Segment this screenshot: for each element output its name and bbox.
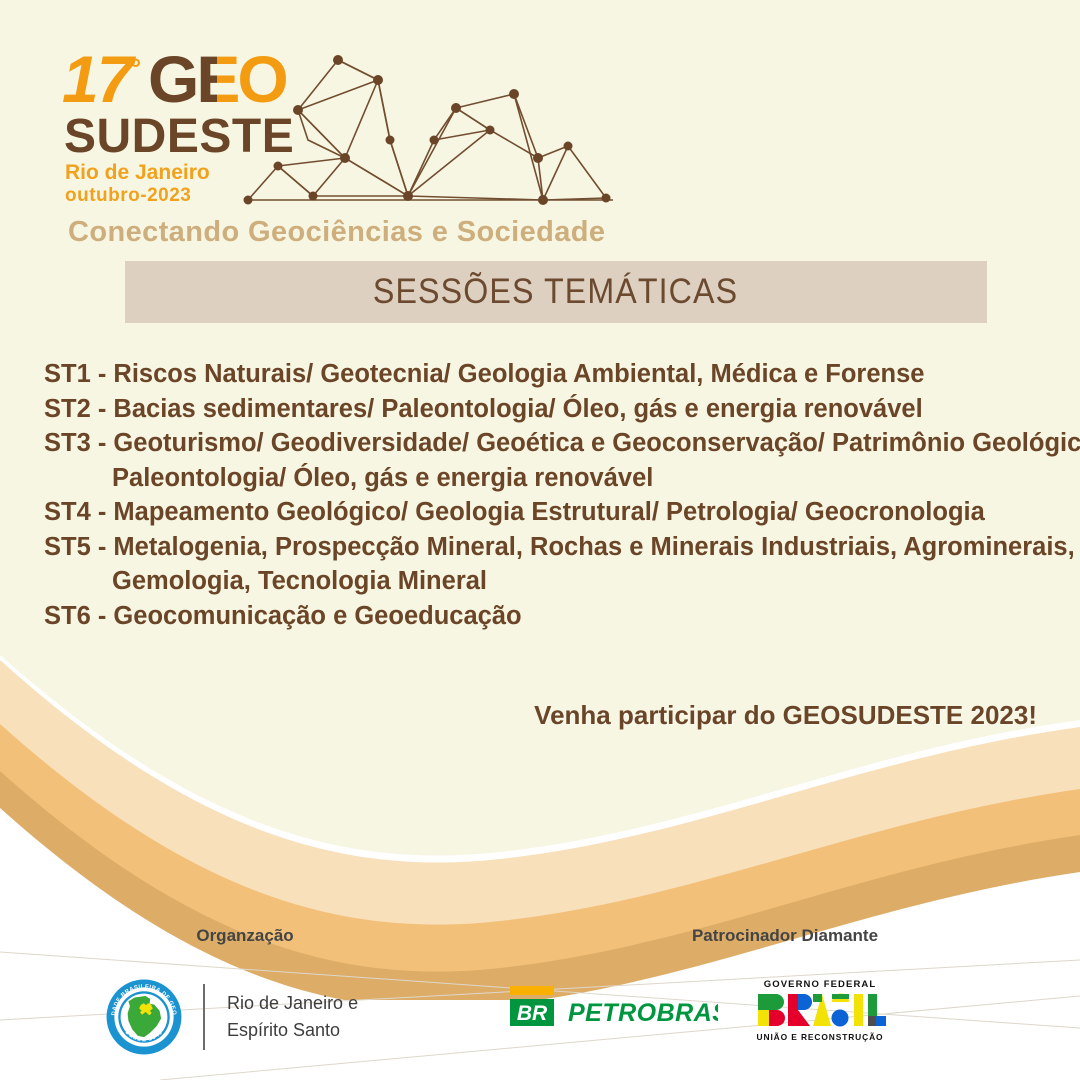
affiliate-line-2: Espírito Santo [227,1017,358,1044]
governo-federal-brasil-logo: GOVERNO FEDERAL [750,976,890,1046]
session-item-st6: ST6 - Geocomunicação e Geoeducação [44,599,1054,634]
svg-text:17: 17 [62,44,137,116]
organization-divider [203,984,205,1050]
footer-sponsor-column: Patrocinador Diamante BR PETROBRAS GOVER… [490,926,1080,946]
svg-text:Rio de Janeiro: Rio de Janeiro [65,161,210,184]
organization-affiliate-text: Rio de Janeiro e Espírito Santo [227,990,358,1044]
poster-canvas: 17 ° GEO SUDESTE Rio de Janeiro outubro-… [0,0,1080,1080]
sponsor-logo-row: BR PETROBRAS GOVERNO FEDERAL [508,976,890,1046]
sbg-sociedade-brasileira-de-geologia-seal: SOCIEDADE BRASILEIRA DE GEOLOGIA DESDE 1… [105,978,183,1056]
session-item-st2: ST2 - Bacias sedimentares/ Paleontologia… [44,392,1054,427]
geo-network-mountain-graphic [238,48,618,213]
session-item-st3-cont: Paleontologia/ Óleo, gás e energia renov… [44,461,1054,496]
petrobras-logo: BR PETROBRAS [508,983,718,1039]
organization-heading: Organzação [0,926,490,946]
organization-logo-row: SOCIEDADE BRASILEIRA DE GEOLOGIA DESDE 1… [105,978,358,1056]
session-item-st3: ST3 - Geoturismo/ Geodiversidade/ Geoéti… [44,426,1054,461]
section-banner-title: SESSÕES TEMÁTICAS [373,272,738,312]
svg-text:UNIÃO E RECONSTRUÇÃO: UNIÃO E RECONSTRUÇÃO [757,1032,884,1042]
affiliate-line-1: Rio de Janeiro e [227,990,358,1017]
sponsor-heading: Patrocinador Diamante [490,926,1080,946]
call-to-action-text: Venha participar do GEOSUDESTE 2023! [534,700,1037,731]
footer: Organzação [0,900,1080,1080]
svg-text:GOVERNO FEDERAL: GOVERNO FEDERAL [764,979,877,990]
event-tagline: Conectando Geociências e Sociedade [68,216,605,249]
svg-text:°: ° [130,53,141,84]
footer-organization-column: Organzação [0,926,490,946]
section-banner: SESSÕES TEMÁTICAS [125,261,987,323]
thematic-sessions-list: ST1 - Riscos Naturais/ Geotecnia/ Geolog… [44,357,1054,633]
svg-text:PETROBRAS: PETROBRAS [568,999,718,1027]
session-item-st5: ST5 - Metalogenia, Prospecção Mineral, R… [44,530,1054,565]
session-item-st4: ST4 - Mapeamento Geológico/ Geologia Est… [44,495,1054,530]
svg-text:outubro-2023: outubro-2023 [65,185,191,206]
session-item-st1: ST1 - Riscos Naturais/ Geotecnia/ Geolog… [44,357,1054,392]
svg-text:BR: BR [517,1002,548,1025]
session-item-st5-cont: Gemologia, Tecnologia Mineral [44,564,1054,599]
